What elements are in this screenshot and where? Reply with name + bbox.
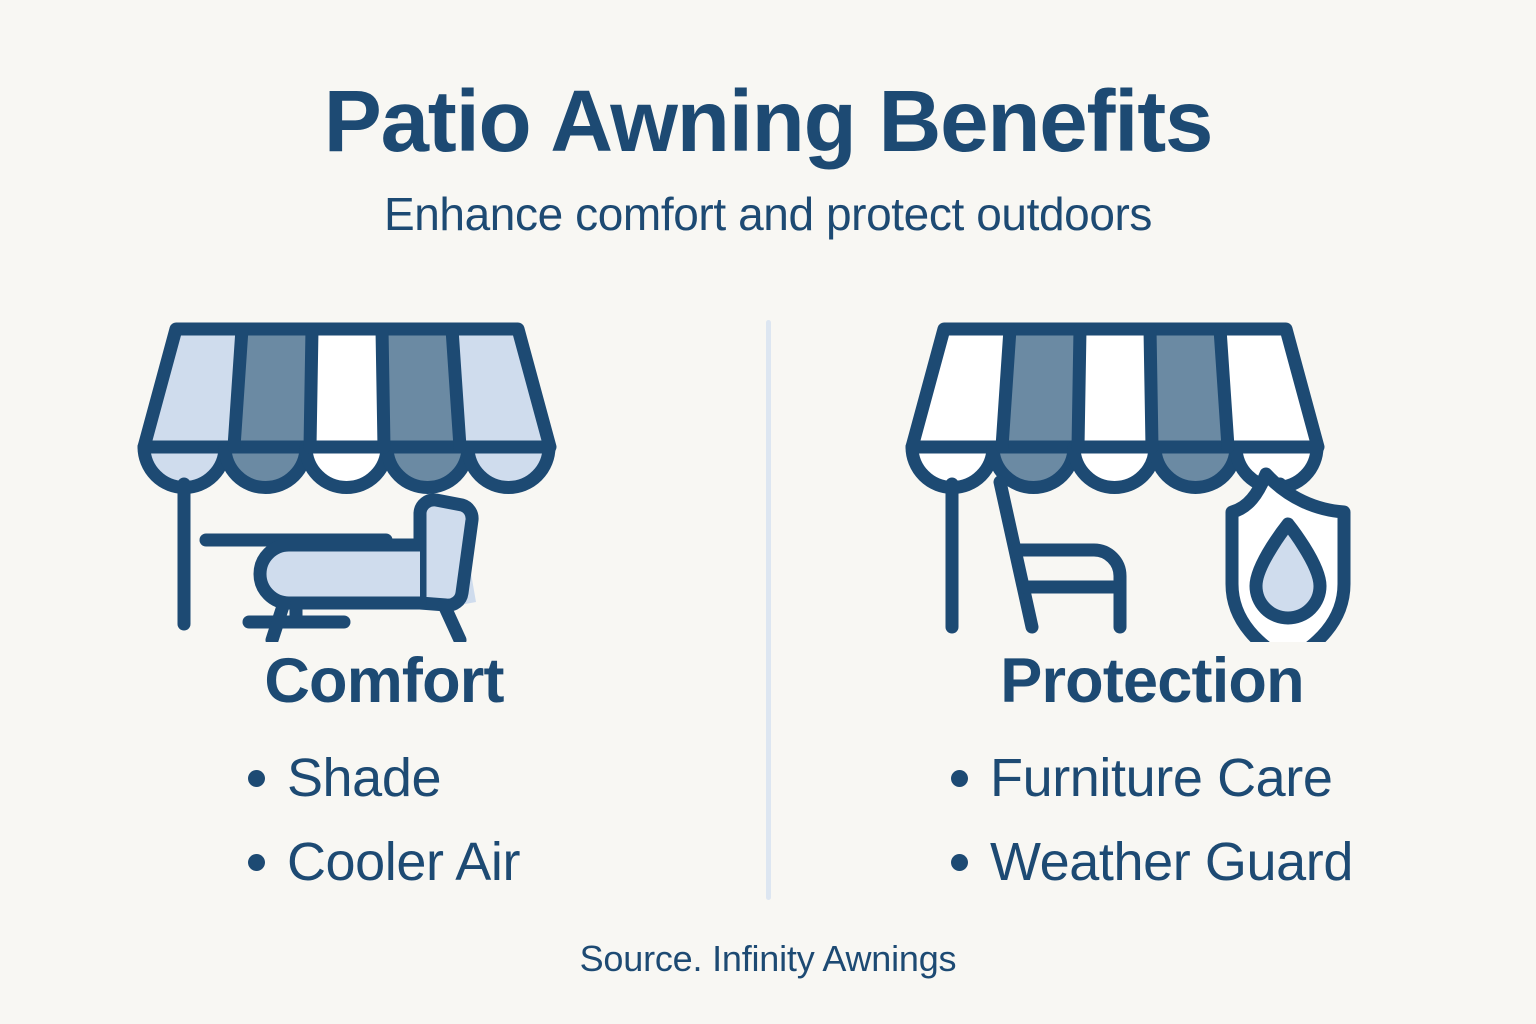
awning-panel-fills	[912, 329, 1318, 447]
awning-table-chair-graphic	[124, 312, 644, 642]
bullet-label: Furniture Care	[990, 751, 1333, 805]
bullet-dot-icon	[951, 770, 968, 787]
protection-illustration	[768, 312, 1536, 642]
benefit-column-comfort: Comfort Shade Cooler Air	[0, 312, 768, 912]
awning-chair-shield-graphic	[892, 312, 1412, 642]
shield-droplet-icon	[1232, 474, 1344, 642]
column-heading-comfort: Comfort	[264, 650, 503, 713]
column-heading-protection: Protection	[1000, 650, 1304, 713]
bullet-dot-icon	[248, 770, 265, 787]
source-caption: Source. Infinity Awnings	[0, 938, 1536, 980]
list-item: Shade	[248, 751, 520, 805]
infographic-canvas: Patio Awning Benefits Enhance comfort an…	[0, 0, 1536, 1024]
comfort-illustration	[0, 312, 768, 642]
chair-leg-front	[272, 603, 284, 640]
list-item: Furniture Care	[951, 751, 1353, 805]
bullet-dot-icon	[248, 854, 265, 871]
bullet-dot-icon	[951, 854, 968, 871]
benefit-columns: Comfort Shade Cooler Air	[0, 312, 1536, 912]
list-item: Weather Guard	[951, 835, 1353, 889]
page-subtitle: Enhance comfort and protect outdoors	[0, 191, 1536, 237]
bullet-label: Weather Guard	[990, 835, 1353, 889]
outline-chair	[1000, 482, 1120, 627]
page-title: Patio Awning Benefits	[0, 78, 1536, 165]
bullet-label: Cooler Air	[287, 835, 520, 889]
header: Patio Awning Benefits Enhance comfort an…	[0, 78, 1536, 237]
chair-leg-back	[444, 605, 460, 640]
bullet-label: Shade	[287, 751, 441, 805]
benefit-column-protection: Protection Furniture Care Weather Guard	[768, 312, 1536, 912]
bullet-list-protection: Furniture Care Weather Guard	[951, 751, 1353, 919]
bullet-list-comfort: Shade Cooler Air	[248, 751, 520, 919]
awning-panel-fills	[144, 329, 550, 447]
list-item: Cooler Air	[248, 835, 520, 889]
